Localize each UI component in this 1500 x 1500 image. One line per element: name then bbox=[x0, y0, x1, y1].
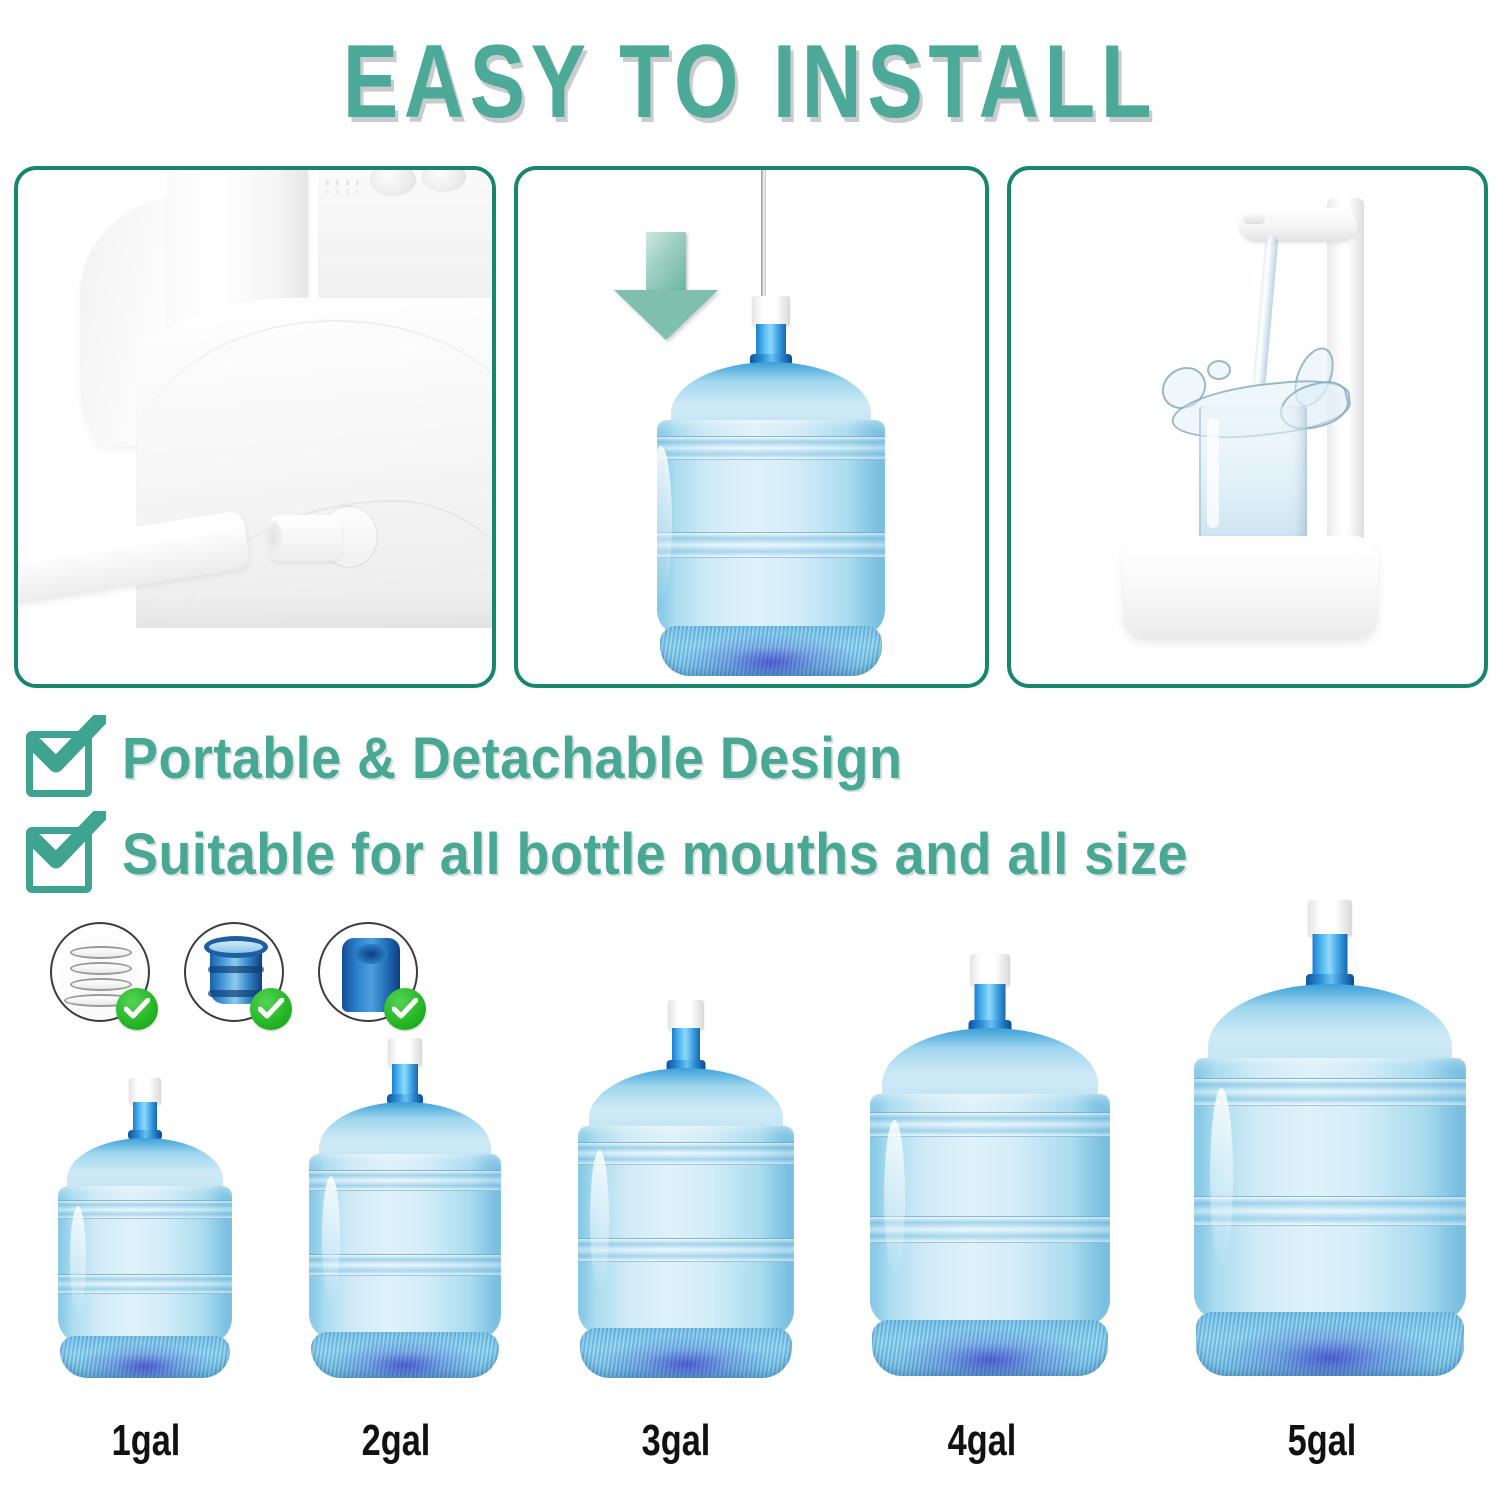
bottle-5gal bbox=[1180, 900, 1480, 1378]
water-splash bbox=[1207, 360, 1231, 380]
dispenser-vent-dots bbox=[324, 176, 366, 198]
bottle-size-label: 4gal bbox=[920, 1416, 1045, 1466]
bottle-size-label: 5gal bbox=[1260, 1416, 1385, 1466]
feature-bullet-label: Suitable for all bottle mouths and all s… bbox=[122, 824, 1188, 886]
bottle-3gal bbox=[566, 1000, 806, 1378]
bottle-1gal bbox=[50, 1078, 240, 1378]
feature-bullet-label: Portable & Detachable Design bbox=[122, 728, 902, 790]
water-stream bbox=[1252, 236, 1278, 387]
page-title: EASY TO INSTALL bbox=[150, 26, 1350, 138]
feed-tube-line bbox=[761, 168, 766, 296]
bottle-2gal bbox=[300, 1038, 510, 1378]
feature-bullet: Portable & Detachable Design bbox=[22, 714, 1422, 804]
panel-bottle-insert bbox=[514, 166, 989, 688]
dispenser-base bbox=[1123, 536, 1378, 640]
bottle-size-label: 1gal bbox=[84, 1416, 209, 1466]
panel-dispense-water bbox=[1007, 166, 1488, 688]
infographic-page: EASY TO INSTALL bbox=[0, 0, 1500, 1500]
checkbox-checked-icon bbox=[22, 721, 98, 797]
feature-bullet: Suitable for all bottle mouths and all s… bbox=[22, 810, 1422, 900]
drinking-glass bbox=[1199, 406, 1307, 554]
bottle-size-lineup: 1gal 2gal 3gal 4gal 5gal bbox=[0, 1010, 1500, 1500]
dispenser-spout-arm bbox=[1239, 208, 1357, 242]
bottle-4gal bbox=[858, 954, 1122, 1378]
feature-bullets: Portable & Detachable Design Suitable fo… bbox=[22, 714, 1422, 900]
bottle-size-label: 3gal bbox=[614, 1416, 739, 1466]
step-panels bbox=[14, 166, 1488, 688]
panel-dispenser-closeup bbox=[14, 166, 496, 688]
bottle-5gal-illustration bbox=[626, 296, 916, 676]
checkbox-checked-icon bbox=[22, 817, 98, 893]
dispenser-outlet-nozzle bbox=[270, 515, 342, 561]
bottle-size-label: 2gal bbox=[334, 1416, 459, 1466]
